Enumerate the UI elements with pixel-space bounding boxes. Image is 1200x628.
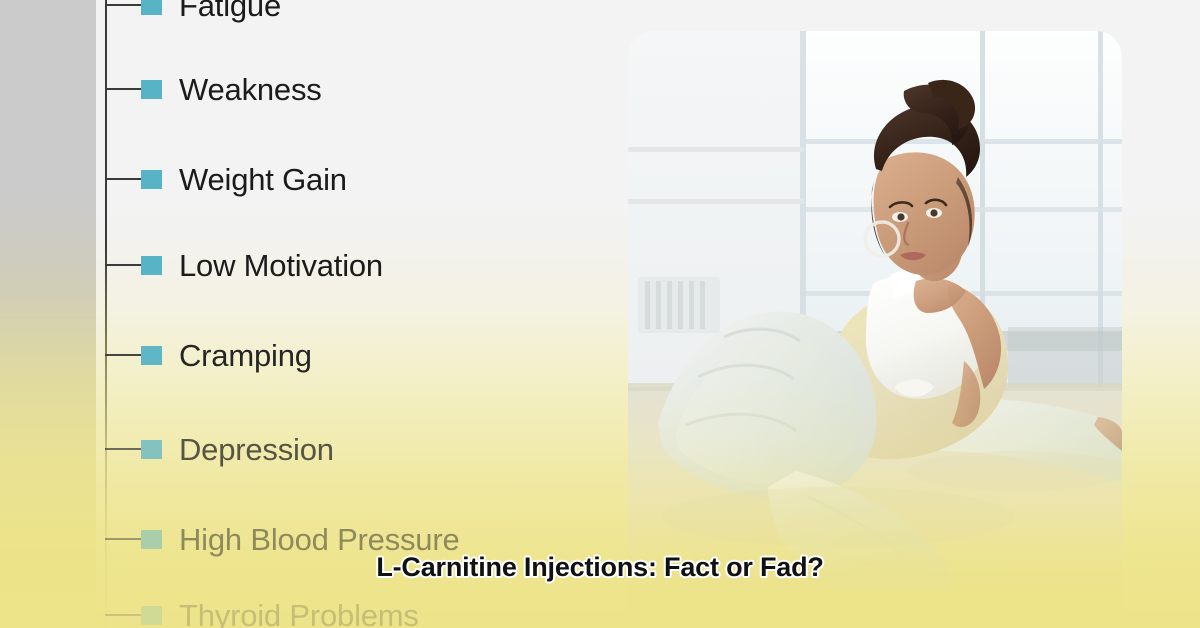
bullet-square-icon xyxy=(141,0,162,15)
list-item: Depression xyxy=(105,432,334,466)
bullet-square-icon xyxy=(141,530,162,549)
list-item: Thyroid Problems xyxy=(105,598,419,628)
connector-line xyxy=(105,264,143,266)
list-item: Weight Gain xyxy=(105,162,347,196)
bullet-square-icon xyxy=(141,256,162,275)
list-item-label: Cramping xyxy=(179,340,312,371)
list-item: Low Motivation xyxy=(105,248,383,282)
bullet-square-icon xyxy=(141,346,162,365)
list-item-label: Fatigue xyxy=(179,0,281,21)
left-color-band xyxy=(0,0,96,628)
bullet-square-icon xyxy=(141,606,162,625)
connector-line xyxy=(105,448,143,450)
bullet-square-icon xyxy=(141,440,162,459)
list-item-label: Weight Gain xyxy=(179,164,347,195)
list-item-label: Depression xyxy=(179,434,334,465)
bullet-square-icon xyxy=(141,80,162,99)
connector-line xyxy=(105,4,143,6)
connector-line xyxy=(105,354,143,356)
list-item: Weakness xyxy=(105,72,322,106)
list-item-label: Weakness xyxy=(179,74,322,105)
connector-line xyxy=(105,88,143,90)
list-item: High Blood Pressure xyxy=(105,522,460,556)
list-item-label: Thyroid Problems xyxy=(179,600,419,628)
list-item: Cramping xyxy=(105,338,312,372)
banner-root: Fatigue Weakness Weight Gain Low Motivat… xyxy=(0,0,1200,628)
list-item-label: High Blood Pressure xyxy=(179,524,460,555)
connector-line xyxy=(105,178,143,180)
connector-line xyxy=(105,538,143,540)
connector-line xyxy=(105,614,143,616)
page-title: L-Carnitine Injections: Fact or Fad? xyxy=(0,552,1200,583)
hero-photo xyxy=(628,31,1122,591)
list-item: Fatigue xyxy=(105,0,281,22)
bullet-square-icon xyxy=(141,170,162,189)
list-item-label: Low Motivation xyxy=(179,250,383,281)
